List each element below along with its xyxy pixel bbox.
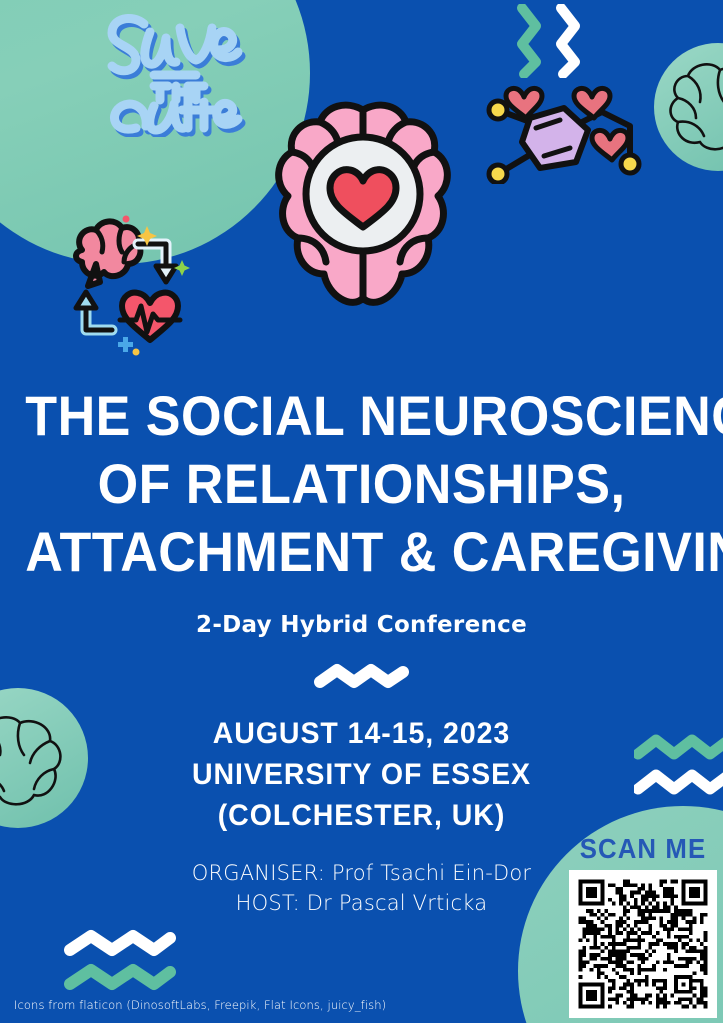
zigzag-vertical-teal-icon [512, 4, 546, 78]
conference-poster: THE SOCIAL NEUROSCIENCE OF RELATIONSHIPS… [0, 0, 723, 1023]
zigzag-vertical-white-icon [551, 4, 585, 78]
title-line-1: THE SOCIAL NEUROSCIENCE [25, 382, 697, 450]
save-the-date-badge [92, 2, 262, 137]
event-date: AUGUST 14-15, 2023 [18, 713, 705, 754]
event-details: AUGUST 14-15, 2023 UNIVERSITY OF ESSEX (… [0, 713, 723, 836]
title-line-2: OF RELATIONSHIPS, [25, 450, 697, 518]
poster-subtitle: 2-Day Hybrid Conference [0, 612, 723, 638]
zigzag-horizontal-teal-icon-bottom [64, 962, 176, 992]
molecule-with-hearts-icon [478, 82, 658, 184]
brain-heart-cycle-icon [52, 206, 207, 361]
qr-code-block[interactable]: SCAN ME [563, 833, 723, 1023]
brain-outline-icon-top-right [660, 52, 723, 162]
poster-title: THE SOCIAL NEUROSCIENCE OF RELATIONSHIPS… [0, 382, 723, 586]
brain-with-heart-icon [268, 96, 458, 324]
event-venue: UNIVERSITY OF ESSEX [18, 754, 705, 795]
scan-me-label: SCAN ME [569, 833, 716, 865]
title-line-3: ATTACHMENT & CAREGIVING [25, 518, 697, 586]
qr-code-image[interactable] [569, 870, 717, 1018]
zigzag-horizontal-white-icon-bottom [64, 928, 176, 958]
event-location: (COLCHESTER, UK) [18, 795, 705, 836]
icon-credits: Icons from flaticon (DinosoftLabs, Freep… [14, 998, 386, 1012]
wave-divider-icon [314, 663, 409, 689]
